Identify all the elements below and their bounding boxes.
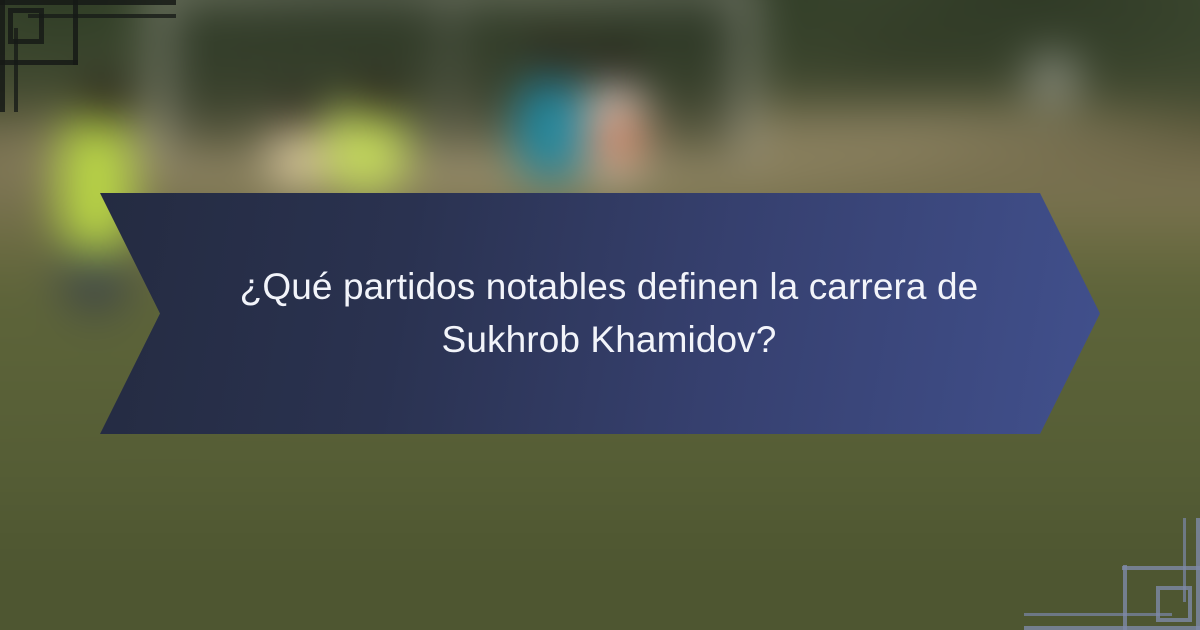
corner-line-horizontal-inner	[1024, 613, 1172, 616]
corner-line-horizontal	[0, 0, 176, 5]
banner-card: ¿Qué partidos notables definen la carrer…	[0, 0, 1200, 630]
corner-elbow-vertical	[73, 0, 78, 65]
corner-elbow-horizontal	[1122, 566, 1200, 570]
corner-line-vertical	[1196, 518, 1200, 630]
headline-banner: ¿Qué partidos notables definen la carrer…	[100, 193, 1100, 434]
corner-square-icon	[1156, 586, 1192, 622]
corner-line-horizontal-inner	[28, 14, 176, 18]
corner-line-horizontal	[1024, 626, 1200, 630]
corner-elbow-horizontal	[0, 60, 78, 65]
corner-ornament-top-left	[0, 0, 176, 112]
corner-elbow-vertical	[1123, 565, 1127, 630]
corner-line-vertical	[0, 0, 5, 112]
corner-square-icon	[8, 8, 44, 44]
headline-title: ¿Qué partidos notables definen la carrer…	[229, 261, 989, 366]
corner-ornament-bottom-right	[1024, 518, 1200, 630]
